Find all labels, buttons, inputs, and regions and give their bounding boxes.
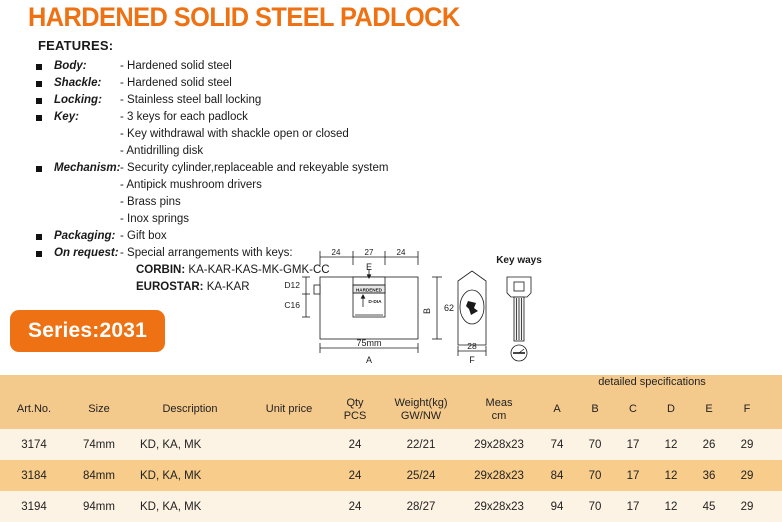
label-d12: D12: [284, 280, 300, 290]
cell-C: 17: [614, 429, 652, 460]
feature-value: - Inox springs: [120, 213, 189, 225]
cell-E: 26: [690, 429, 728, 460]
cell-weight: 28/27: [382, 491, 460, 522]
header-qty-label: Qty: [328, 397, 382, 410]
header-size: Size: [68, 391, 130, 429]
padlock-drawing-svg: 24 27 24 E D12 C16 HARDENED D-DIA 75mm A…: [275, 245, 575, 370]
header-spec-c: C: [614, 391, 652, 429]
table-row: 317474mmKD, KA, MK2422/2129x28x237470171…: [0, 429, 782, 460]
cell-E: 45: [690, 491, 728, 522]
cell-description: KD, KA, MK: [130, 491, 250, 522]
header-spec-a: A: [538, 391, 576, 429]
header-art-no: Art.No.: [0, 391, 68, 429]
feature-row: - Antidrilling disk: [36, 144, 456, 161]
cell-C: 17: [614, 460, 652, 491]
table-body: 317474mmKD, KA, MK2422/2129x28x237470171…: [0, 429, 782, 522]
feature-label: Key:: [54, 111, 79, 123]
header-meas-label: Meas: [460, 397, 538, 410]
cell-A: 84: [538, 460, 576, 491]
cell-B: 70: [576, 429, 614, 460]
cell-art-no: 3174: [0, 429, 68, 460]
cell-D: 12: [652, 429, 690, 460]
cell-art-no: 3194: [0, 491, 68, 522]
header-spec-e: E: [690, 391, 728, 429]
cell-F: 29: [728, 460, 766, 491]
header-spacer: [0, 375, 538, 391]
cell-unit-price: [250, 429, 328, 460]
header-unit-price-label: Unit price: [250, 403, 328, 416]
label-c16: C16: [284, 300, 300, 310]
header-weight-sub: GW/NW: [382, 410, 460, 423]
feature-row: Mechanism:- Security cylinder,replaceabl…: [36, 161, 456, 178]
feature-row: Body:- Hardened solid steel: [36, 59, 456, 76]
feature-label: Mechanism:: [54, 162, 120, 174]
bullet-square-icon: [36, 115, 42, 121]
dim-top-2: 27: [365, 248, 374, 257]
key-brand-name: CORBIN:: [136, 264, 185, 276]
dim-height: 62: [444, 303, 454, 313]
feature-value: - Gift box: [120, 230, 167, 242]
feature-value: - 3 keys for each padlock: [120, 111, 248, 123]
feature-row: - Inox springs: [36, 212, 456, 229]
header-spacer-right: [766, 375, 782, 391]
cell-description: KD, KA, MK: [130, 429, 250, 460]
feature-value: - Hardened solid steel: [120, 77, 232, 89]
header-spec-d: D: [652, 391, 690, 429]
dim-top-3: 24: [397, 248, 406, 257]
cell-unit-price: [250, 460, 328, 491]
cell-D: 12: [652, 460, 690, 491]
table-header-row: Art.No. Size Description Unit price Qty …: [0, 391, 782, 429]
features-heading: FEATURES:: [38, 38, 456, 53]
bullet-square-icon: [36, 251, 42, 257]
header-spec-b: B: [576, 391, 614, 429]
header-detailed-specs: detailed specifications: [538, 375, 766, 391]
table-header-group-row: detailed specifications: [0, 375, 782, 391]
feature-value: - Hardened solid steel: [120, 60, 232, 72]
cell-weight: 22/21: [382, 429, 460, 460]
feature-value: - Security cylinder,replaceable and reke…: [120, 162, 388, 174]
cell-qty: 24: [328, 429, 382, 460]
bullet-square-icon: [36, 234, 42, 240]
feature-value: - Key withdrawal with shackle open or cl…: [120, 128, 349, 140]
keyways-title: Key ways: [496, 255, 542, 266]
technical-drawing: 24 27 24 E D12 C16 HARDENED D-DIA 75mm A…: [275, 245, 575, 370]
feature-row: Packaging:- Gift box: [36, 229, 456, 246]
cell-size: 74mm: [68, 429, 130, 460]
cell-F: 29: [728, 491, 766, 522]
cell-meas: 29x28x23: [460, 491, 538, 522]
page-title: HARDENED SOLID STEEL PADLOCK: [28, 2, 460, 33]
feature-row: Key:- 3 keys for each padlock: [36, 110, 456, 127]
cell-B: 70: [576, 491, 614, 522]
feature-value: - Antipick mushroom drivers: [120, 179, 262, 191]
cell-size: 84mm: [68, 460, 130, 491]
cell-meas: 29x28x23: [460, 460, 538, 491]
cell-unit-price: [250, 491, 328, 522]
features-list: Body:- Hardened solid steelShackle:- Har…: [36, 59, 456, 263]
feature-row: - Antipick mushroom drivers: [36, 178, 456, 195]
feature-row: - Key withdrawal with shackle open or cl…: [36, 127, 456, 144]
specifications-table: detailed specifications Art.No. Size Des…: [0, 375, 782, 522]
label-e: E: [366, 262, 372, 272]
cell-qty: 24: [328, 491, 382, 522]
key-brand-codes: KA-KAR: [204, 281, 250, 293]
feature-label: Locking:: [54, 94, 102, 106]
table-header: detailed specifications Art.No. Size Des…: [0, 375, 782, 429]
cell-F: 29: [728, 429, 766, 460]
cell-pins: 6: [766, 491, 782, 522]
feature-row: - Brass pins: [36, 195, 456, 212]
feature-row: Shackle:- Hardened solid steel: [36, 76, 456, 93]
label-b: B: [422, 308, 432, 314]
table-row: 319494mmKD, KA, MK2428/2729x28x239470171…: [0, 491, 782, 522]
feature-label: Packaging:: [54, 230, 115, 242]
header-qty: Qty PCS: [328, 391, 382, 429]
cell-art-no: 3184: [0, 460, 68, 491]
cell-E: 36: [690, 460, 728, 491]
label-d-dia: D-DIA: [368, 299, 382, 305]
cell-qty: 24: [328, 460, 382, 491]
table-row: 318484mmKD, KA, MK2425/2429x28x238470171…: [0, 460, 782, 491]
cell-size: 94mm: [68, 491, 130, 522]
cell-A: 74: [538, 429, 576, 460]
bullet-square-icon: [36, 64, 42, 70]
header-qty-sub: PCS: [328, 410, 382, 423]
cell-weight: 25/24: [382, 460, 460, 491]
feature-value: - Antidrilling disk: [120, 145, 203, 157]
feature-label: Shackle:: [54, 77, 101, 89]
dim-side-width: 28: [467, 341, 477, 351]
specifications-table-wrap: detailed specifications Art.No. Size Des…: [0, 375, 782, 522]
feature-value: - Special arrangements with keys:: [120, 247, 293, 259]
feature-value: - Stainless steel ball locking: [120, 94, 261, 106]
header-weight: Weight(kg) GW/NW: [382, 391, 460, 429]
label-f: F: [469, 355, 475, 365]
dim-width: 75mm: [356, 338, 381, 348]
header-pins: pins No.: [766, 391, 782, 429]
header-meas-sub: cm: [460, 410, 538, 423]
bullet-square-icon: [36, 166, 42, 172]
cell-description: KD, KA, MK: [130, 460, 250, 491]
cell-pins: 6: [766, 460, 782, 491]
label-a: A: [366, 355, 372, 365]
key-brand-text: EUROSTAR: KA-KAR: [136, 281, 250, 293]
body-text-hardened: HARDENED: [356, 288, 383, 293]
cell-D: 12: [652, 491, 690, 522]
header-weight-label: Weight(kg): [382, 397, 460, 410]
cell-pins: 6: [766, 429, 782, 460]
feature-row: Locking:- Stainless steel ball locking: [36, 93, 456, 110]
header-meas: Meas cm: [460, 391, 538, 429]
feature-label: Body:: [54, 60, 87, 72]
header-unit-price: Unit price: [250, 391, 328, 429]
bullet-square-icon: [36, 81, 42, 87]
series-badge: Series:2031: [10, 310, 165, 352]
feature-value: - Brass pins: [120, 196, 181, 208]
product-spec-sheet: HARDENED SOLID STEEL PADLOCK FEATURES: B…: [0, 0, 782, 509]
header-spec-f: F: [728, 391, 766, 429]
key-brand-name: EUROSTAR:: [136, 281, 204, 293]
cell-A: 94: [538, 491, 576, 522]
header-description: Description: [130, 391, 250, 429]
cell-B: 70: [576, 460, 614, 491]
cell-C: 17: [614, 491, 652, 522]
bullet-square-icon: [36, 98, 42, 104]
feature-label: On request:: [54, 247, 119, 259]
cell-meas: 29x28x23: [460, 429, 538, 460]
dim-top-1: 24: [332, 248, 341, 257]
